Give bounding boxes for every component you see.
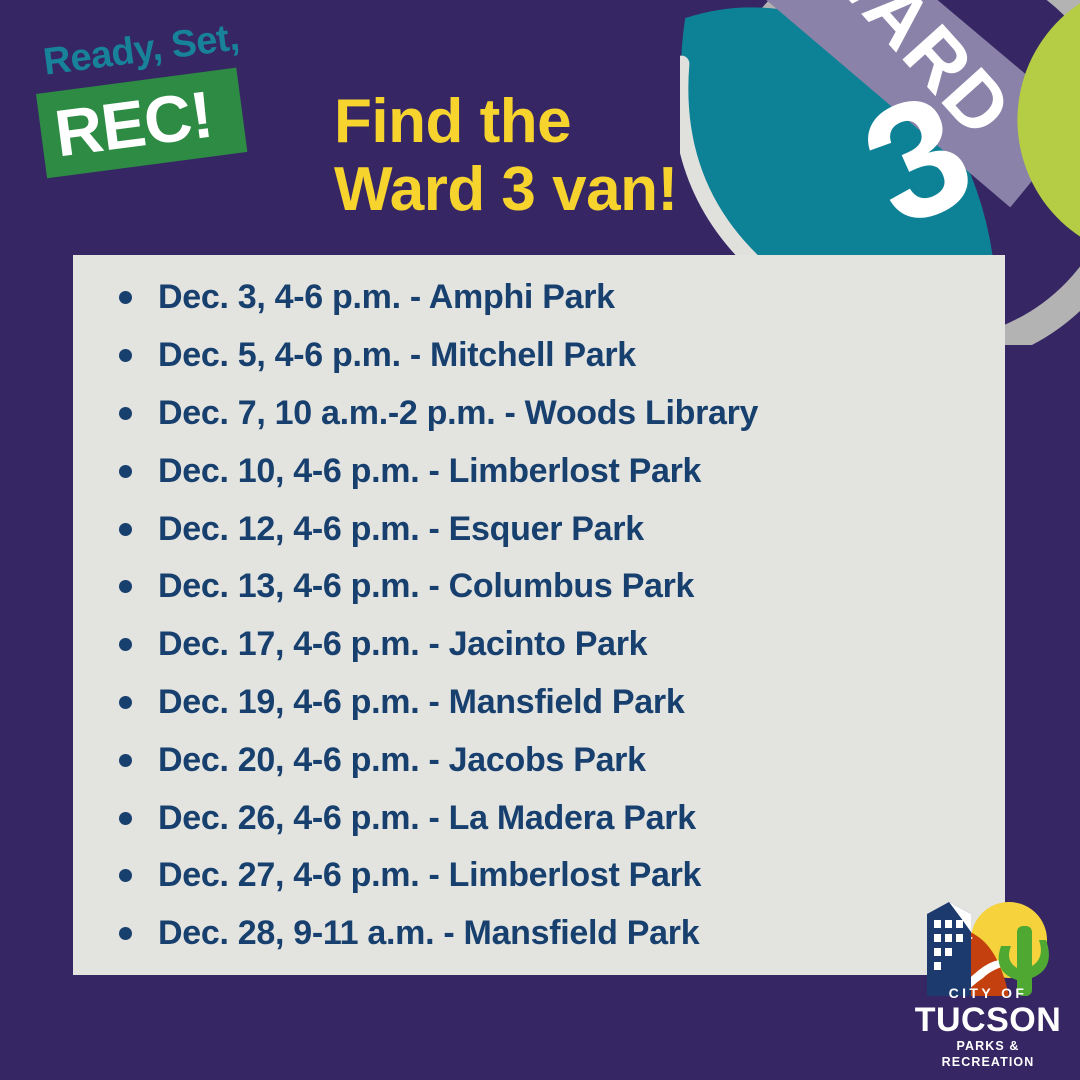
bullet-icon	[119, 580, 132, 593]
schedule-item-text: Dec. 10, 4-6 p.m. - Limberlost Park	[158, 452, 701, 491]
bullet-icon	[119, 869, 132, 882]
schedule-list-item: Dec. 20, 4-6 p.m. - Jacobs Park	[119, 731, 995, 789]
schedule-list-item: Dec. 12, 4-6 p.m. - Esquer Park	[119, 500, 995, 558]
page-title: Find the Ward 3 van!	[334, 88, 754, 224]
ready-set-rec-logo: Ready, Set, REC!	[30, 38, 270, 193]
tucson-logo-mark	[913, 892, 1061, 1000]
rec-badge: REC!	[36, 68, 247, 179]
rec-text: REC!	[50, 75, 216, 173]
schedule-list-item: Dec. 7, 10 a.m.-2 p.m. - Woods Library	[119, 385, 995, 443]
bullet-icon	[119, 407, 132, 420]
schedule-list-item: Dec. 28, 9-11 a.m. - Mansfield Park	[119, 905, 995, 963]
ward-number-text: 3	[838, 56, 997, 261]
schedule-item-text: Dec. 13, 4-6 p.m. - Columbus Park	[158, 567, 694, 606]
schedule-item-text: Dec. 27, 4-6 p.m. - Limberlost Park	[158, 856, 701, 895]
tucson-logo-wordmark: CITY OF TUCSON PARKS & RECREATION	[908, 985, 1068, 1070]
bullet-icon	[119, 638, 132, 651]
bullet-icon	[119, 465, 132, 478]
schedule-item-text: Dec. 20, 4-6 p.m. - Jacobs Park	[158, 741, 646, 780]
schedule-item-text: Dec. 28, 9-11 a.m. - Mansfield Park	[158, 914, 699, 953]
parks-and-recreation-text: PARKS & RECREATION	[908, 1038, 1068, 1070]
bullet-icon	[119, 754, 132, 767]
schedule-item-text: Dec. 3, 4-6 p.m. - Amphi Park	[158, 278, 615, 317]
schedule-item-text: Dec. 7, 10 a.m.-2 p.m. - Woods Library	[158, 394, 758, 433]
schedule-list-item: Dec. 27, 4-6 p.m. - Limberlost Park	[119, 847, 995, 905]
schedule-item-text: Dec. 26, 4-6 p.m. - La Madera Park	[158, 799, 696, 838]
city-of-text: CITY OF	[908, 985, 1068, 1002]
tucson-text: TUCSON	[908, 1002, 1068, 1038]
bullet-icon	[119, 291, 132, 304]
bullet-icon	[119, 696, 132, 709]
bullet-icon	[119, 523, 132, 536]
schedule-item-text: Dec. 12, 4-6 p.m. - Esquer Park	[158, 510, 644, 549]
page-title-line-1: Find the	[334, 88, 754, 156]
schedule-list-item: Dec. 13, 4-6 p.m. - Columbus Park	[119, 558, 995, 616]
schedule-list-item: Dec. 5, 4-6 p.m. - Mitchell Park	[119, 327, 995, 385]
bullet-icon	[119, 927, 132, 940]
schedule-list-item: Dec. 17, 4-6 p.m. - Jacinto Park	[119, 616, 995, 674]
bullet-icon	[119, 349, 132, 362]
city-of-tucson-parks-and-recreation-logo: CITY OF TUCSON PARKS & RECREATION	[908, 892, 1068, 1070]
schedule-list-item: Dec. 3, 4-6 p.m. - Amphi Park	[119, 269, 995, 327]
schedule-list: Dec. 3, 4-6 p.m. - Amphi ParkDec. 5, 4-6…	[119, 269, 995, 963]
schedule-panel: Dec. 3, 4-6 p.m. - Amphi ParkDec. 5, 4-6…	[73, 255, 1005, 975]
ward-label-text: WARD	[800, 0, 1030, 154]
schedule-list-item: Dec. 19, 4-6 p.m. - Mansfield Park	[119, 674, 995, 732]
bullet-icon	[119, 812, 132, 825]
schedule-item-text: Dec. 19, 4-6 p.m. - Mansfield Park	[158, 683, 684, 722]
schedule-item-text: Dec. 17, 4-6 p.m. - Jacinto Park	[158, 625, 647, 664]
schedule-list-item: Dec. 10, 4-6 p.m. - Limberlost Park	[119, 442, 995, 500]
schedule-item-text: Dec. 5, 4-6 p.m. - Mitchell Park	[158, 336, 636, 375]
schedule-list-item: Dec. 26, 4-6 p.m. - La Madera Park	[119, 789, 995, 847]
poster-canvas: WARD 3	[0, 0, 1080, 1080]
page-title-line-2: Ward 3 van!	[334, 156, 754, 224]
